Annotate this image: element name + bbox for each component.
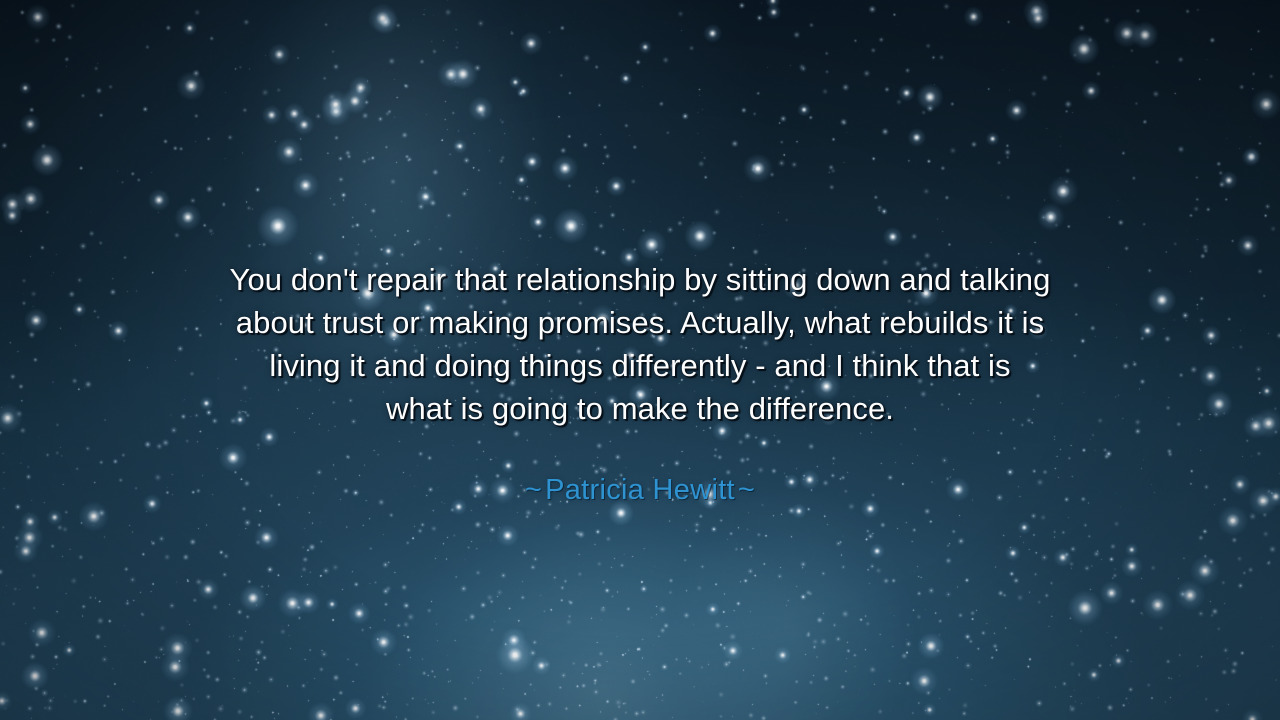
quote-line-3: living it and doing things differently -… bbox=[100, 344, 1180, 387]
tilde-right-icon: ~ bbox=[735, 474, 758, 506]
quote-text-block: You don't repair that relationship by si… bbox=[0, 258, 1280, 430]
quote-line-2: about trust or making promises. Actually… bbox=[100, 301, 1180, 344]
quote-line-4: what is going to make the difference. bbox=[100, 387, 1180, 430]
quote-attribution: ~Patricia Hewitt~ bbox=[0, 472, 1280, 508]
tilde-left-icon: ~ bbox=[522, 474, 545, 506]
quote-poster: You don't repair that relationship by si… bbox=[0, 0, 1280, 720]
author-name: Patricia Hewitt bbox=[545, 474, 735, 506]
quote-line-1: You don't repair that relationship by si… bbox=[100, 258, 1180, 301]
